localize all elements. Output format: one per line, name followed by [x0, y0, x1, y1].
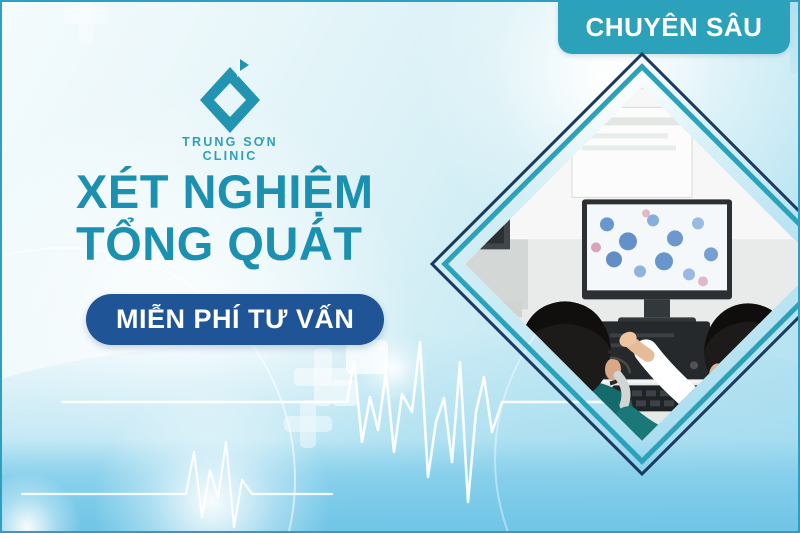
diamond-inner-border [441, 63, 800, 465]
diamond-logo-icon [190, 57, 270, 135]
decor-square [346, 340, 388, 374]
badge-side-strip [790, 0, 800, 74]
medical-cross-icon [64, 0, 108, 44]
background-glow [0, 472, 82, 533]
free-consultation-button[interactable]: MIỄN PHÍ TƯ VẤN [86, 294, 384, 345]
promo-banner: CHUYÊN SÂU TRUNG SƠN CLINIC XÉT NGHIỆM T… [0, 0, 800, 533]
background-arc-left [0, 247, 296, 533]
background-band [2, 439, 798, 531]
clinic-photo [465, 87, 800, 441]
brand-logo[interactable]: TRUNG SƠN CLINIC [160, 57, 300, 152]
headline-line-1: XÉT NGHIỆM [76, 166, 496, 218]
clinic-photo-illustration [465, 89, 800, 440]
background-glow [92, 382, 332, 533]
page-title: XÉT NGHIỆM TỔNG QUÁT [76, 166, 496, 270]
brand-name: TRUNG SƠN CLINIC [160, 135, 300, 163]
decor-square [332, 380, 358, 406]
medical-cross-icon [284, 400, 332, 448]
badge-chuyen-sau[interactable]: CHUYÊN SÂU [558, 0, 790, 54]
diamond-outer-border [430, 52, 800, 476]
badge-label: CHUYÊN SÂU [586, 12, 763, 43]
photo-diamond [492, 114, 792, 414]
